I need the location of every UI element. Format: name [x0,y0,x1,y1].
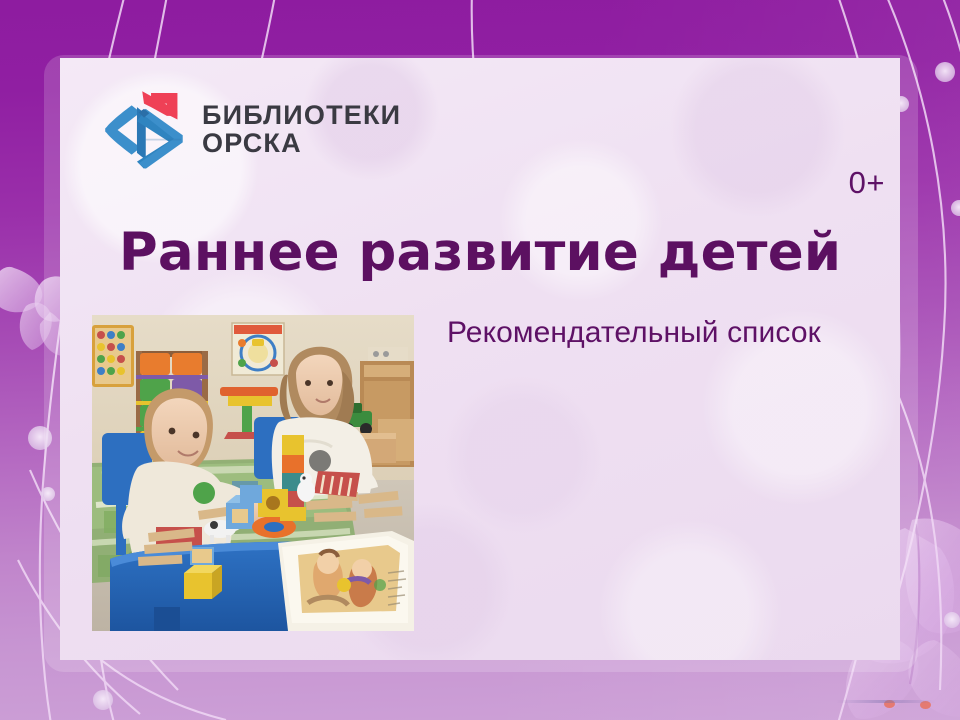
presentation-slide: БИБЛИОТЕКИ ОРСКА 0+ Раннее развитие дете… [0,0,960,720]
slide-subtitle: Рекомендательный список [447,316,821,350]
picture-book [278,531,414,631]
wall-poster [232,323,284,375]
biblioteki-orska-cube-logo-icon [100,86,188,174]
library-logo: БИБЛИОТЕКИ ОРСКА [100,86,401,174]
logo-line-1: БИБЛИОТЕКИ [202,102,401,130]
abacus [92,325,134,387]
photo-illustration [92,315,414,631]
logo-line-2: ОРСКА [202,130,401,158]
slide-title: Раннее развитие детей [0,222,960,283]
children-playing-blocks-photo [92,315,414,631]
age-rating-badge: 0+ [849,165,885,201]
logo-text-block: БИБЛИОТЕКИ ОРСКА [202,102,401,157]
bottom-decor-line [836,700,936,703]
